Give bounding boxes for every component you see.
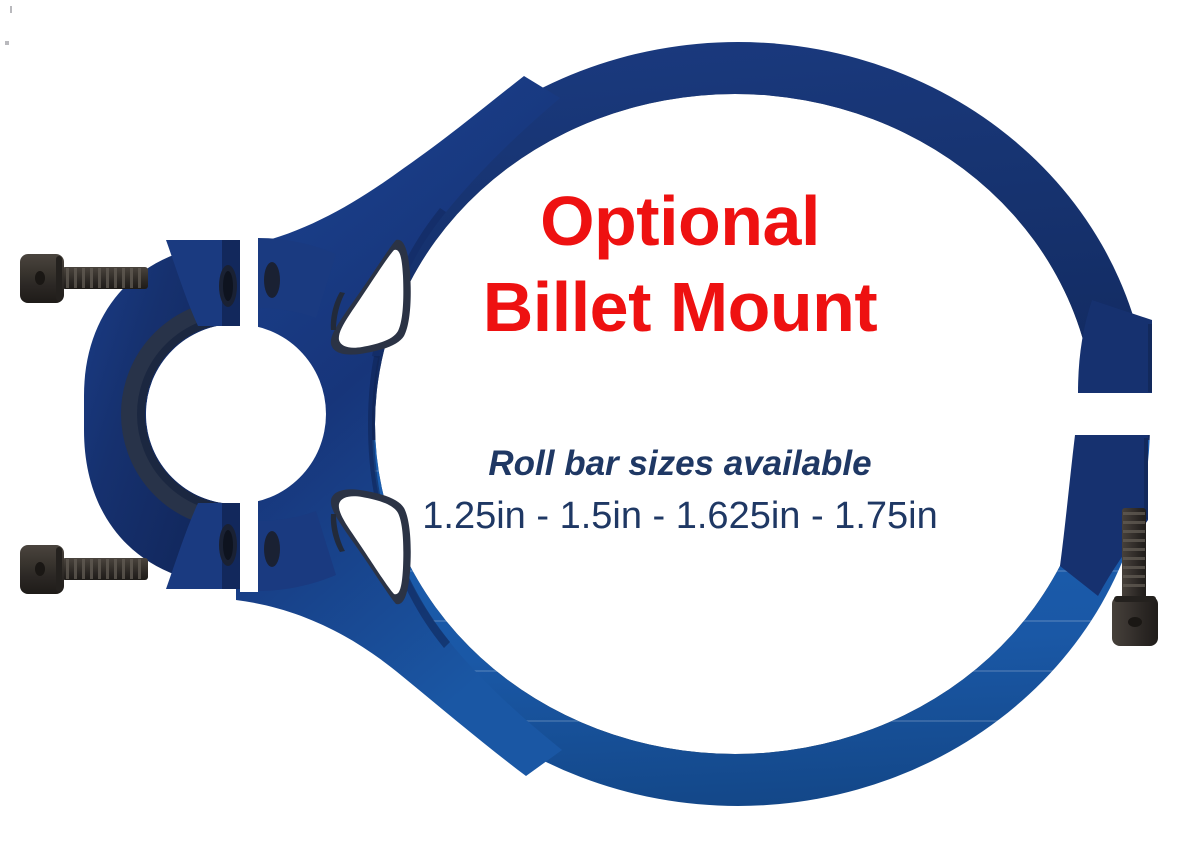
pinch-gap-right (1052, 393, 1162, 435)
scan-artifact-1 (10, 6, 12, 13)
billet-mount-illustration (0, 0, 1200, 851)
roll-bar-bore (146, 324, 326, 504)
bolt-threads-right (1123, 512, 1145, 587)
scan-artifact-2 (5, 41, 9, 45)
product-image: Optional Billet Mount Roll bar sizes ava… (0, 0, 1200, 851)
